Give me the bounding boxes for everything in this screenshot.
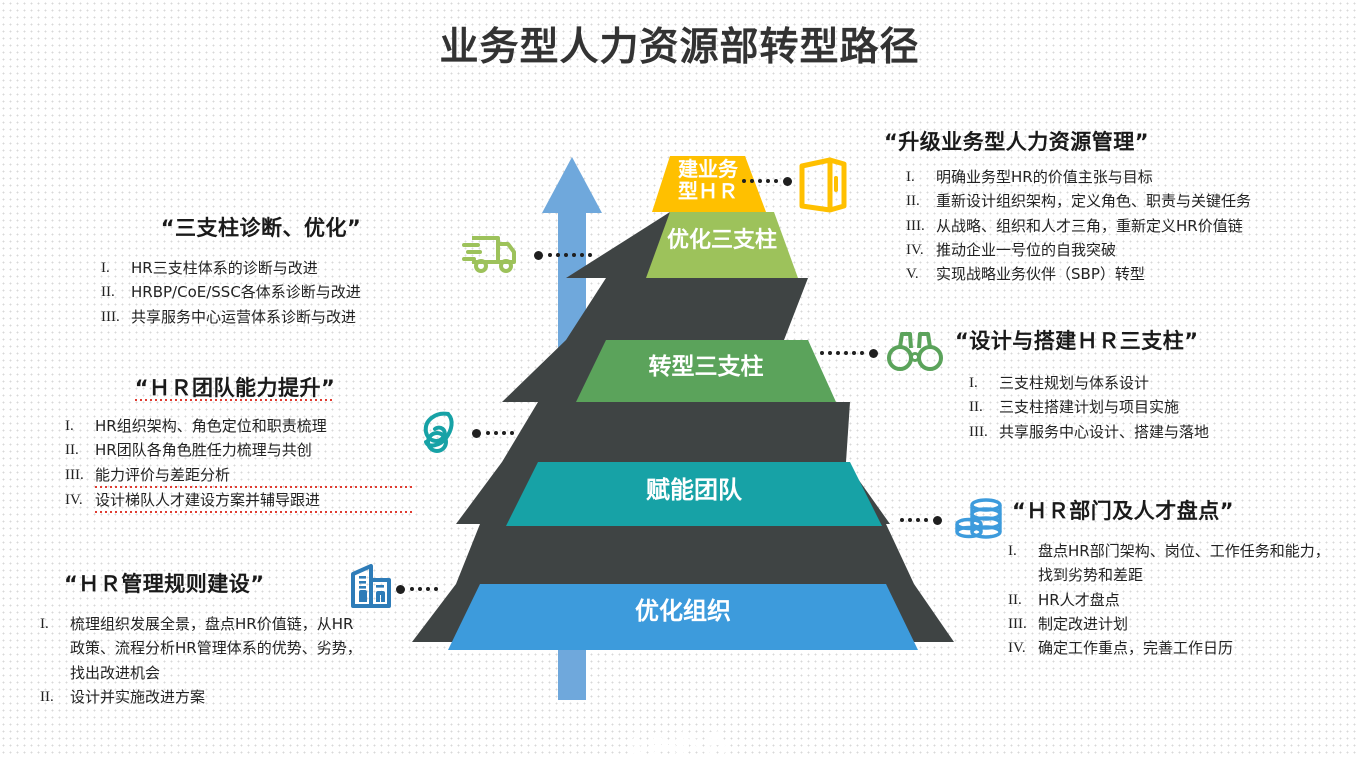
block-hr-talent-review-list: I. 盘点HR部门架构、岗位、工作任务和能力，找到劣势和差距 II. HR人才盘… [1000,539,1330,660]
block-design-build-pillars-list: I. 三支柱规划与体系设计 II. 三支柱搭建计划与项目实施 III. 共享服务… [955,371,1355,444]
list-item-number: III. [101,305,131,329]
list-item-text: 推动企业一号位的自我突破 [936,238,1356,262]
list-item-number: III. [65,463,95,488]
list-item: I. 三支柱规划与体系设计 [969,371,1355,395]
list-item-text: 重新设计组织架构，定义角色、职责与关键任务 [936,189,1356,213]
list-item: V. 实现战略业务伙伴（SBP）转型 [906,262,1356,286]
list-item-text: 设计梯队人才建设方案并辅导跟进 [95,488,415,513]
list-item: II. HR人才盘点 [1008,588,1330,612]
connector-level-3 [820,348,878,358]
list-item-text: 梳理组织发展全景，盘点HR价值链，从HR政策、流程分析HR管理体系的优势、劣势，… [70,612,362,685]
list-item-text: 三支柱规划与体系设计 [999,371,1355,395]
block-upgrade-hr: “升级业务型人力资源管理” I. 明确业务型HR的价值主张与目标 II. 重新设… [884,126,1356,286]
block-team-capability-heading: “ＨＲ团队能力提升” [55,372,415,402]
list-item: III. 共享服务中心设计、搭建与落地 [969,420,1355,444]
list-item-text: 确定工作重点，完善工作日历 [1038,636,1330,660]
list-item-text: HR人才盘点 [1038,588,1330,612]
list-item: I. 盘点HR部门架构、岗位、工作任务和能力，找到劣势和差距 [1008,539,1330,588]
pyramid-level-2 [646,212,798,278]
list-item-text: 明确业务型HR的价值主张与目标 [936,165,1356,189]
list-item-number: I. [906,165,936,189]
block-team-capability-heading-text: “ＨＲ团队能力提升” [135,376,336,401]
list-item-number: III. [906,214,936,238]
pyramid-level-4 [506,462,882,526]
list-item-number: II. [65,438,95,462]
delivery-truck-icon [462,228,518,283]
list-item-number: II. [906,189,936,213]
list-item: II. HR团队各角色胜任力梳理与共创 [65,438,415,462]
list-item-number: IV. [65,488,95,513]
list-item: II. 设计并实施改进方案 [40,685,362,709]
list-item: III. 共享服务中心运营体系诊断与改进 [101,305,447,329]
block-upgrade-hr-list: I. 明确业务型HR的价值主张与目标 II. 重新设计组织架构，定义角色、职责与… [884,165,1356,286]
list-item-text: 盘点HR部门架构、岗位、工作任务和能力，找到劣势和差距 [1038,539,1330,588]
list-item-number: II. [40,685,70,709]
connector-level-5 [900,515,942,525]
block-upgrade-hr-heading: “升级业务型人力资源管理” [884,126,1356,156]
block-hr-rules-heading: “ＨＲ管理规则建设” [64,568,362,598]
block-hr-talent-review: “ＨＲ部门及人才盘点” I. 盘点HR部门架构、岗位、工作任务和能力，找到劣势和… [1000,495,1330,660]
list-item-text: 三支柱搭建计划与项目实施 [999,395,1355,419]
coin-stack-icon [954,494,1006,551]
list-item: III. 能力评价与差距分析 [65,463,415,488]
block-three-pillar-diagnose: “三支柱诊断、优化” I. HR三支柱体系的诊断与改进 II. HRBP/CoE… [75,212,447,329]
block-hr-rules-list: I. 梳理组织发展全景，盘点HR价值链，从HR政策、流程分析HR管理体系的优势、… [22,612,362,709]
block-design-build-pillars: “设计与搭建ＨＲ三支柱” I. 三支柱规划与体系设计 II. 三支柱搭建计划与项… [955,325,1355,444]
list-item: IV. 设计梯队人才建设方案并辅导跟进 [65,488,415,513]
binoculars-icon [884,326,946,379]
list-item: IV. 推动企业一号位的自我突破 [906,238,1356,262]
list-item-number: IV. [1008,636,1038,660]
list-item: IV. 确定工作重点，完善工作日历 [1008,636,1330,660]
list-item-number: I. [1008,539,1038,588]
list-item-text: 共享服务中心设计、搭建与落地 [999,420,1355,444]
list-item-number: I. [969,371,999,395]
list-item-text: HR团队各角色胜任力梳理与共创 [95,438,415,462]
list-item-number: III. [1008,612,1038,636]
list-item: II. 重新设计组织架构，定义角色、职责与关键任务 [906,189,1356,213]
list-item: I. 明确业务型HR的价值主张与目标 [906,165,1356,189]
block-three-pillar-diagnose-list: I. HR三支柱体系的诊断与改进 II. HRBP/CoE/SSC各体系诊断与改… [75,256,447,329]
block-hr-talent-review-heading: “ＨＲ部门及人才盘点” [1012,495,1330,525]
pyramid-level-5 [448,584,918,650]
list-item-number: II. [1008,588,1038,612]
list-item-text: 共享服务中心运营体系诊断与改进 [131,305,447,329]
shadow-2b [502,402,850,462]
list-item-number: II. [969,395,999,419]
list-item-number: II. [101,280,131,304]
list-item-text: 能力评价与差距分析 [95,463,415,488]
list-item-number: I. [40,612,70,685]
connector-level-4 [472,428,514,438]
connector-level-1 [742,176,792,186]
shadow-3b [456,524,914,584]
block-design-build-pillars-heading: “设计与搭建ＨＲ三支柱” [955,325,1355,355]
list-item: I. HR组织架构、角色定位和职责梳理 [65,414,415,438]
block-hr-rules: “ＨＲ管理规则建设” I. 梳理组织发展全景，盘点HR价值链，从HR政策、流程分… [22,568,362,709]
connector-level-2 [534,250,592,260]
ribbon-swirl-icon [418,408,466,465]
list-item-text: 设计并实施改进方案 [70,685,362,709]
block-team-capability-list: I. HR组织架构、角色定位和职责梳理 II. HR团队各角色胜任力梳理与共创 … [55,414,415,513]
block-three-pillar-diagnose-heading: “三支柱诊断、优化” [75,212,447,242]
list-item: I. 梳理组织发展全景，盘点HR价值链，从HR政策、流程分析HR管理体系的优势、… [40,612,362,685]
list-item-number: I. [65,414,95,438]
list-item-text: 制定改进计划 [1038,612,1330,636]
list-item: II. 三支柱搭建计划与项目实施 [969,395,1355,419]
list-item-number: IV. [906,238,936,262]
list-item-number: V. [906,262,936,286]
list-item-number: I. [101,256,131,280]
open-door-icon [796,156,850,219]
page-title: 业务型人力资源部转型路径 [0,16,1359,72]
list-item-text: 从战略、组织和人才三角，重新定义HR价值链 [936,214,1356,238]
shadow-1b [566,278,808,340]
list-item: III. 制定改进计划 [1008,612,1330,636]
block-team-capability: “ＨＲ团队能力提升” I. HR组织架构、角色定位和职责梳理 II. HR团队各… [55,372,415,513]
list-item-text: HRBP/CoE/SSC各体系诊断与改进 [131,280,447,304]
pyramid-level-6-label: 夯实体系 [382,730,972,758]
list-item-number: III. [969,420,999,444]
list-item-text: HR组织架构、角色定位和职责梳理 [95,414,415,438]
list-item: II. HRBP/CoE/SSC各体系诊断与改进 [101,280,447,304]
pyramid-level-3 [576,340,836,402]
list-item: I. HR三支柱体系的诊断与改进 [101,256,447,280]
list-item-text: 实现战略业务伙伴（SBP）转型 [936,262,1356,286]
list-item-text: HR三支柱体系的诊断与改进 [131,256,447,280]
list-item: III. 从战略、组织和人才三角，重新定义HR价值链 [906,214,1356,238]
connector-level-6 [396,584,438,594]
